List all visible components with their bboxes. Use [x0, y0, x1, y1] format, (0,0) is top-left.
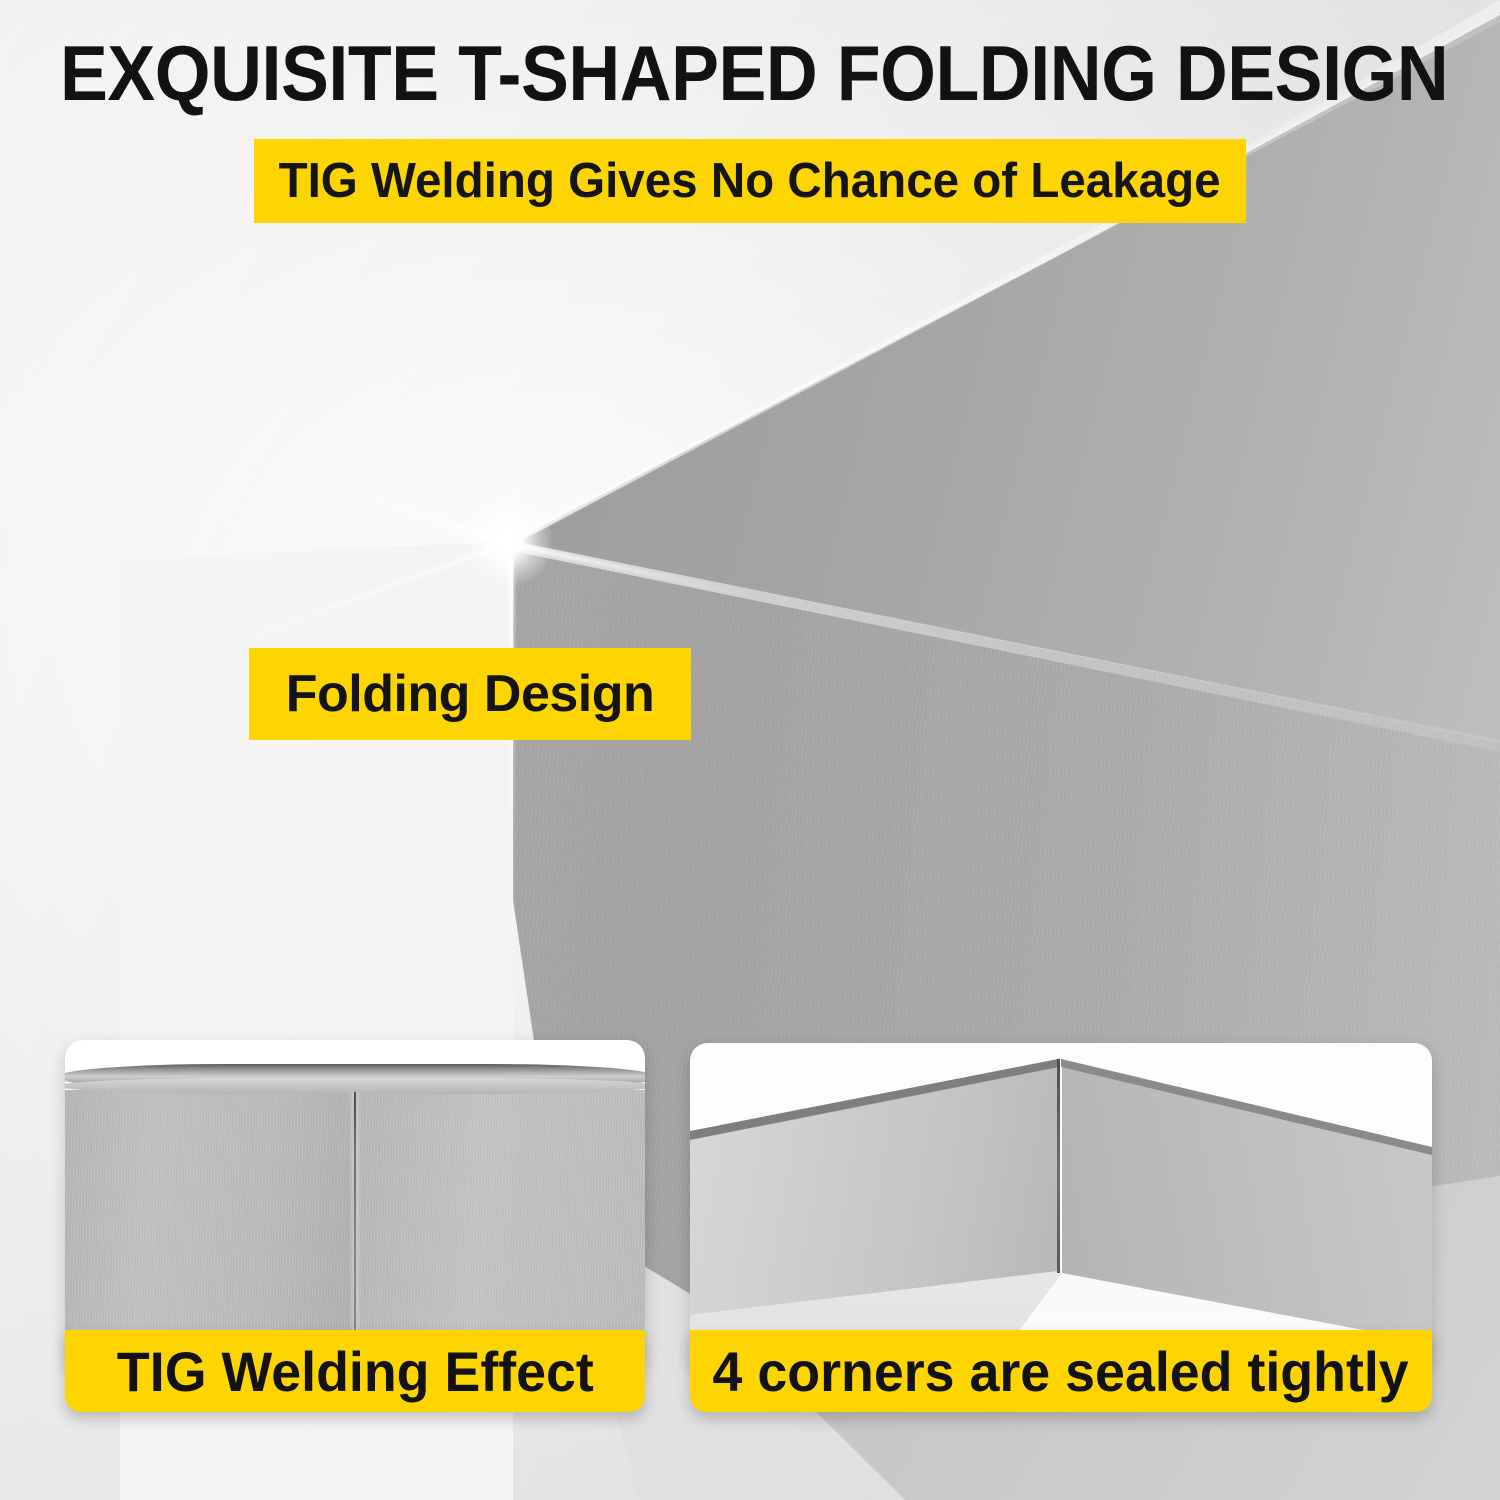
inset-card-sealed-corners [690, 1043, 1432, 1370]
page-title: EXQUISITE T-SHAPED FOLDING DESIGN [60, 34, 1440, 112]
weld-seam-line [354, 1092, 356, 1370]
subtitle-text: TIG Welding Gives No Chance of Leakage [279, 153, 1221, 209]
caption-text-sealed-corners: 4 corners are sealed tightly [713, 1339, 1409, 1404]
product-feature-image: EXQUISITE T-SHAPED FOLDING DESIGN TIG We… [0, 0, 1500, 1500]
tig-welding-photo [65, 1040, 645, 1370]
subtitle-banner: TIG Welding Gives No Chance of Leakage [254, 139, 1246, 223]
folding-design-badge: Folding Design [249, 648, 691, 740]
corner-vertical-crease [1057, 1059, 1060, 1273]
caption-bar-sealed-corners: 4 corners are sealed tightly [690, 1330, 1432, 1412]
folding-design-label: Folding Design [286, 664, 655, 724]
inset-card-tig-welding [65, 1040, 645, 1370]
flare-core [463, 497, 553, 587]
caption-text-tig-welding: TIG Welding Effect [117, 1339, 594, 1404]
sealed-corner-photo [690, 1043, 1432, 1370]
caption-bar-tig-welding: TIG Welding Effect [65, 1330, 645, 1412]
